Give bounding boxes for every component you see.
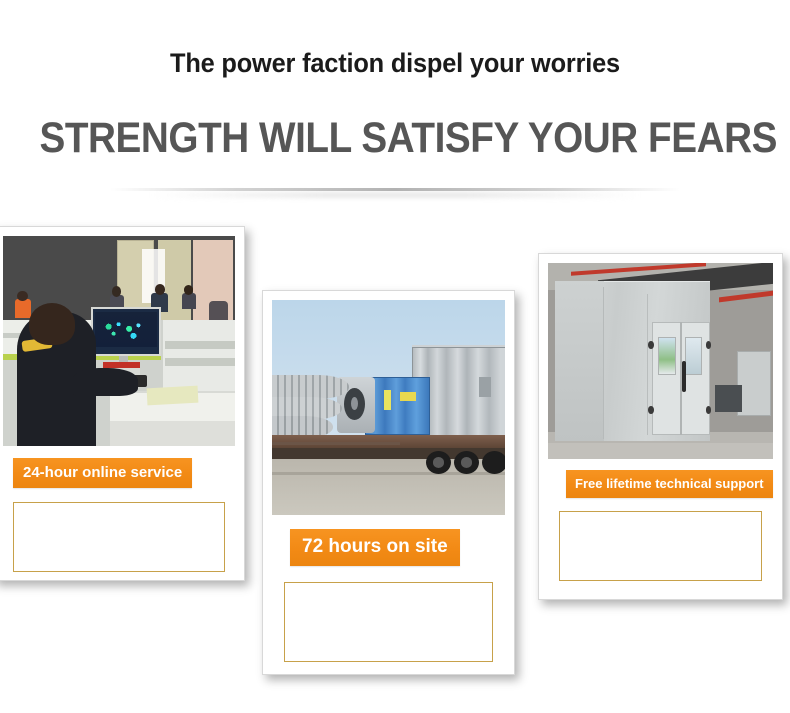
card-note-box[interactable]	[13, 502, 225, 572]
card-photo-cleanroom	[548, 263, 773, 459]
feature-card-online-service[interactable]: 24-hour online service	[0, 226, 245, 581]
card-photo-truck	[272, 300, 505, 515]
feature-card-on-site[interactable]: 72 hours on site	[262, 290, 515, 675]
header-divider	[110, 188, 680, 191]
card-badge-online-service[interactable]: 24-hour online service	[13, 458, 192, 488]
card-note-box[interactable]	[284, 582, 493, 662]
card-badge-on-site[interactable]: 72 hours on site	[290, 529, 460, 566]
page-header: The power faction dispel your worries ST…	[0, 0, 790, 205]
card-photo-office	[3, 236, 235, 446]
feature-card-technical-support[interactable]: Free lifetime technical support	[538, 253, 783, 600]
card-note-box[interactable]	[559, 511, 762, 581]
card-badge-technical-support[interactable]: Free lifetime technical support	[566, 470, 773, 498]
divider-glow	[150, 192, 640, 198]
page-title: STRENGTH WILL SATISFY YOUR FEARS	[40, 114, 751, 163]
page-subheading: The power faction dispel your worries	[24, 48, 767, 79]
